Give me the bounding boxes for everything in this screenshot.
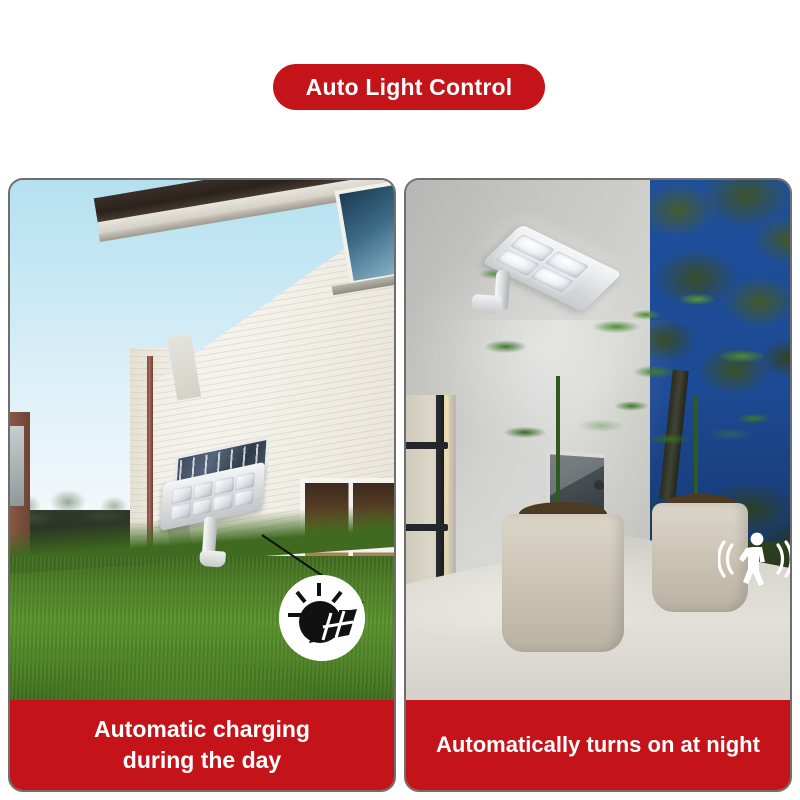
infographic-page: Auto Light Control <box>0 0 800 800</box>
night-scene <box>406 180 790 704</box>
lamp-wall-bracket <box>199 550 226 568</box>
caption-day-line2: during the day <box>123 746 281 775</box>
motion-sensor-walking-person-icon <box>718 529 790 589</box>
caption-day-line1: Automatic charging <box>94 715 310 744</box>
title-banner: Auto Light Control <box>273 64 545 110</box>
sun-solar-panel-icon <box>279 575 365 661</box>
led-module <box>212 493 232 512</box>
caption-night-line1: Automatically turns on at night <box>436 731 760 758</box>
day-scene <box>10 180 394 704</box>
led-module <box>170 502 190 521</box>
potted-palm-front <box>502 352 624 652</box>
led-module <box>233 489 253 508</box>
panel-day: Automatic charging during the day <box>8 178 396 792</box>
frame-crossbar <box>406 524 448 531</box>
panel-night: Automatically turns on at night <box>404 178 792 792</box>
caption-day: Automatic charging during the day <box>10 700 394 790</box>
frame-crossbar <box>406 442 448 449</box>
caption-night: Automatically turns on at night <box>406 700 790 790</box>
lamp-wall-bracket <box>471 294 502 314</box>
led-module <box>191 498 211 517</box>
panel-group: Automatic charging during the day <box>8 178 792 792</box>
page-title: Auto Light Control <box>306 74 513 101</box>
plant-pot <box>502 514 624 652</box>
led-array <box>170 472 254 521</box>
